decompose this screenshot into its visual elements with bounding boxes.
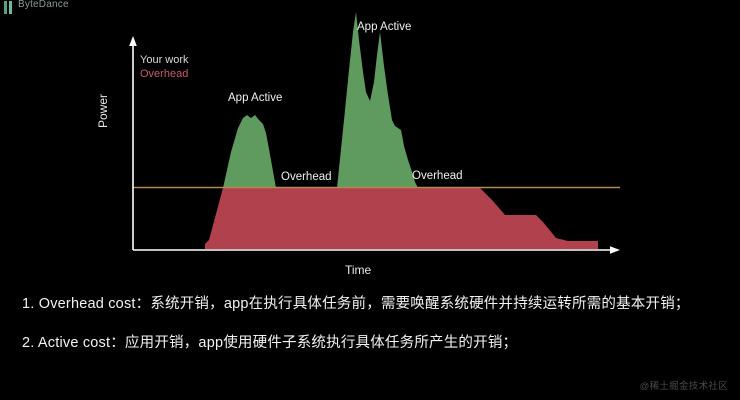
slide-screen: ByteDance Power Time Your work Overhead … xyxy=(0,0,740,400)
paragraph-overhead-cost: 1. Overhead cost：系统开销，app在执行具体任务前，需要唤醒系统… xyxy=(22,292,722,317)
app-active-area-1 xyxy=(223,115,276,188)
paragraph-active-cost: 2. Active cost：应用开销，app使用硬件子系统执行具体任务所产生的… xyxy=(22,331,722,356)
chart-legend: Your work Overhead xyxy=(140,53,189,81)
legend-item-overhead: Overhead xyxy=(140,67,189,81)
overhead-area xyxy=(133,188,598,249)
explanation-text: 1. Overhead cost：系统开销，app在执行具体任务前，需要唤醒系统… xyxy=(22,292,722,370)
annotation-app-active-2: App Active xyxy=(357,21,411,33)
annotation-overhead-1: Overhead xyxy=(281,171,332,183)
y-axis-arrow-icon xyxy=(129,36,137,46)
x-axis-label: Time xyxy=(345,263,371,277)
x-axis-arrow-icon xyxy=(610,246,620,253)
annotation-app-active-1: App Active xyxy=(228,92,282,104)
app-active-area-2 xyxy=(337,12,418,188)
watermark: @稀土掘金技术社区 xyxy=(640,378,728,392)
chart-canvas xyxy=(0,0,740,285)
power-vs-time-chart: Power Time Your work Overhead App Active… xyxy=(0,0,740,285)
annotation-overhead-2: Overhead xyxy=(412,170,463,182)
legend-item-your-work: Your work xyxy=(140,53,189,67)
y-axis-label: Power xyxy=(96,94,110,128)
